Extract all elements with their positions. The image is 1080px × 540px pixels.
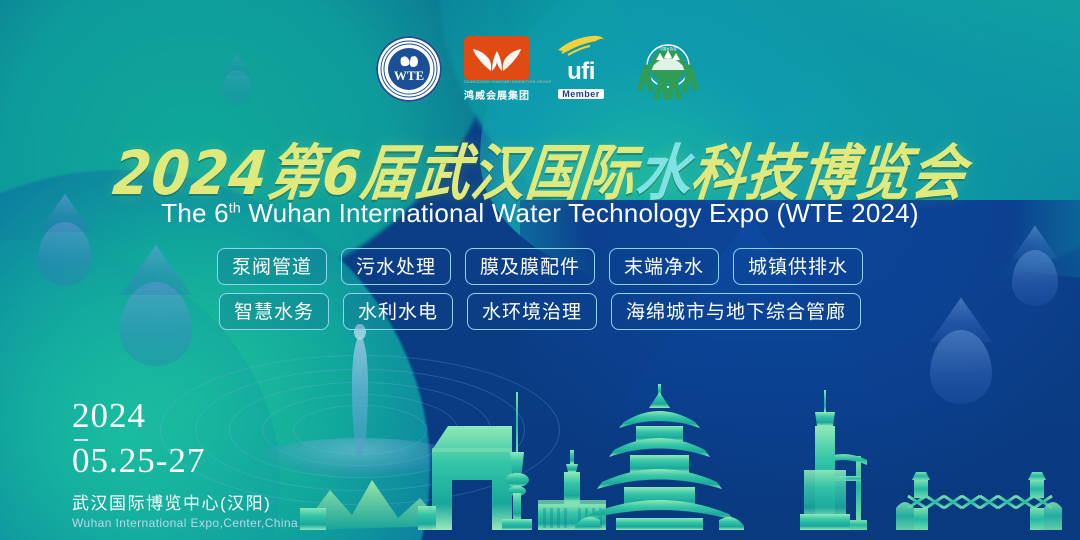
- water-drop-icon: [930, 330, 992, 404]
- hongwei-logo-en: GUANGDONG HONGWEI EXHIBITION GROUP: [464, 80, 530, 84]
- subtitle-prefix: The 6: [161, 198, 229, 228]
- ufi-member-logo: ufi Member: [552, 34, 610, 102]
- tag-smart-water[interactable]: 智慧水务: [219, 293, 329, 330]
- date-venue-block: 2024 05.25-27 武汉国际博览中心(汉阳) Wuhan Interna…: [72, 398, 298, 530]
- svg-text:中国水协会: 中国水协会: [660, 46, 678, 51]
- tag-water-conservancy-hydropower[interactable]: 水利水电: [343, 293, 453, 330]
- hongwei-logo-cn: 鸿威会展集团: [464, 87, 530, 102]
- ufi-logo-text: ufi: [552, 61, 610, 84]
- hongwei-exhibition-group-logo: GUANGDONG HONGWEI EXHIBITION GROUP 鸿威会展集…: [464, 36, 530, 102]
- hongwei-logo-mark: [464, 36, 530, 80]
- event-dates: 05.25-27: [72, 443, 298, 480]
- page-subtitle: The 6th Wuhan International Water Techno…: [0, 198, 1080, 229]
- subtitle-ordinal: th: [229, 199, 241, 215]
- wte-logo-mark: WTE: [380, 40, 438, 98]
- tag-row-2: 智慧水务 水利水电 水环境治理 海绵城市与地下综合管廊: [0, 293, 1080, 330]
- tag-sponge-city-utility-tunnel[interactable]: 海绵城市与地下综合管廊: [611, 293, 861, 330]
- association-logo-mark: 中国水协会: [632, 40, 704, 102]
- tag-row-1: 泵阀管道 污水处理 膜及膜配件 末端净水 城镇供排水: [0, 248, 1080, 285]
- hongwei-wings-icon: [469, 41, 525, 75]
- category-tags: 泵阀管道 污水处理 膜及膜配件 末端净水 城镇供排水 智慧水务 水利水电 水环境…: [0, 248, 1080, 338]
- tag-urban-water-supply-drainage[interactable]: 城镇供排水: [733, 248, 863, 285]
- venue-name-cn: 武汉国际博览中心(汉阳): [72, 489, 298, 514]
- subtitle-rest: Wuhan International Water Technology Exp…: [241, 198, 919, 228]
- expo-banner: WTE GUANGDONG HONGWEI EXHIBITION GROUP 鸿…: [0, 0, 1080, 540]
- sponsor-logos: WTE GUANGDONG HONGWEI EXHIBITION GROUP 鸿…: [0, 34, 1080, 102]
- page-title: 2024第6届武汉国际水科技博览会: [0, 128, 1080, 207]
- association-logo: 中国水协会: [632, 40, 704, 102]
- wte-logo-text: WTE: [394, 68, 424, 83]
- tag-terminal-water-purification[interactable]: 末端净水: [609, 248, 719, 285]
- tag-membrane-parts[interactable]: 膜及膜配件: [465, 248, 595, 285]
- tag-sewage-treatment[interactable]: 污水处理: [341, 248, 451, 285]
- event-year: 2024: [72, 398, 298, 433]
- tag-pump-valve-pipe[interactable]: 泵阀管道: [217, 248, 327, 285]
- ufi-wing-icon: [554, 34, 608, 56]
- ufi-member-badge: Member: [558, 89, 604, 99]
- wte-logo: WTE: [376, 36, 442, 102]
- tag-water-environment-governance[interactable]: 水环境治理: [467, 293, 597, 330]
- venue-name-en: Wuhan International Expo,Center,China: [72, 516, 298, 530]
